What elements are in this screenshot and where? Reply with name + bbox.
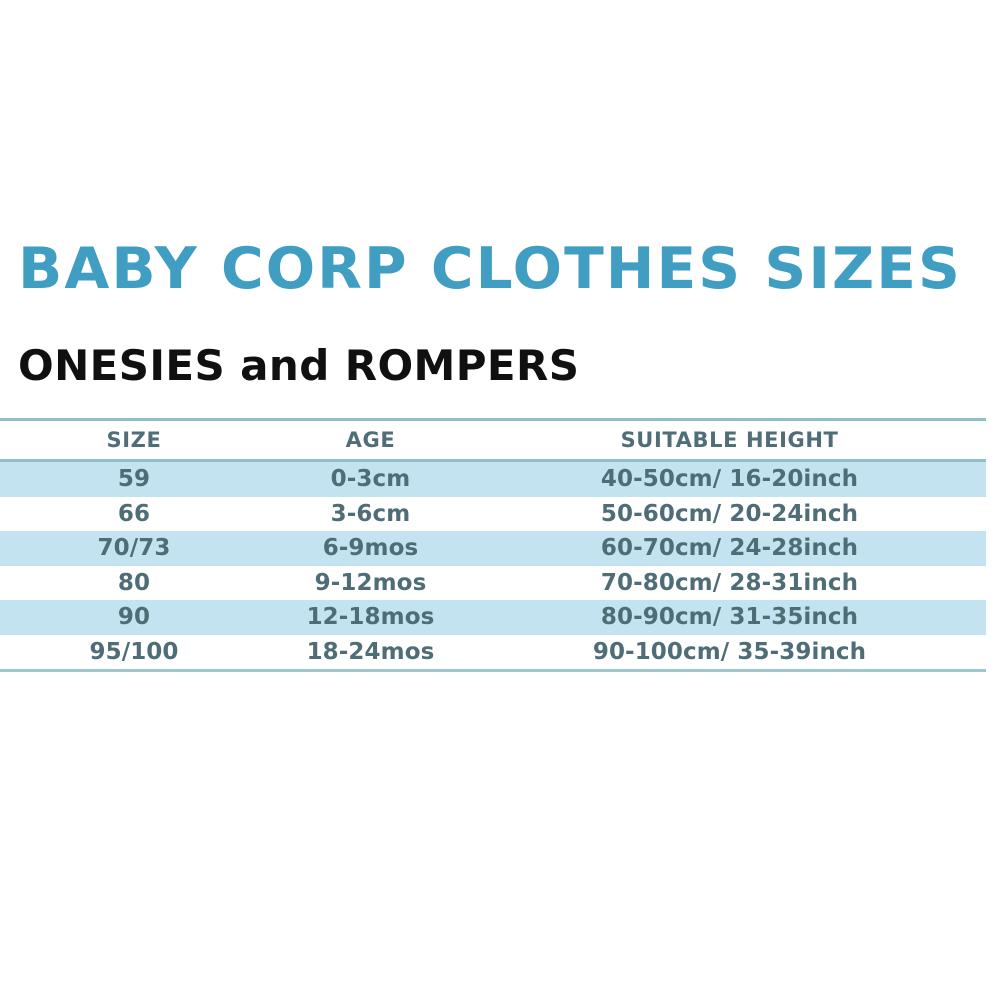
cell-suitable-height: 70-80cm/ 28-31inch <box>473 566 986 601</box>
cell-suitable-height: 40-50cm/ 16-20inch <box>473 461 986 497</box>
cell-size: 59 <box>0 461 268 497</box>
cell-size: 90 <box>0 600 268 635</box>
column-header-height: SUITABLE HEIGHT <box>473 420 986 461</box>
table-row: 9012-18mos80-90cm/ 31-35inch <box>0 600 986 635</box>
cell-suitable-height: 50-60cm/ 20-24inch <box>473 497 986 532</box>
table-row: 663-6cm50-60cm/ 20-24inch <box>0 497 986 532</box>
cell-age: 12-18mos <box>268 600 473 635</box>
size-chart-table: SIZE AGE SUITABLE HEIGHT 590-3cm40-50cm/… <box>0 418 986 672</box>
table-row: 70/736-9mos60-70cm/ 24-28inch <box>0 531 986 566</box>
cell-age: 9-12mos <box>268 566 473 601</box>
cell-suitable-height: 80-90cm/ 31-35inch <box>473 600 986 635</box>
cell-size: 70/73 <box>0 531 268 566</box>
cell-age: 3-6cm <box>268 497 473 532</box>
cell-suitable-height: 60-70cm/ 24-28inch <box>473 531 986 566</box>
table-header: SIZE AGE SUITABLE HEIGHT <box>0 420 986 461</box>
table-body: 590-3cm40-50cm/ 16-20inch663-6cm50-60cm/… <box>0 461 986 671</box>
cell-suitable-height: 90-100cm/ 35-39inch <box>473 635 986 671</box>
table-row: 809-12mos70-80cm/ 28-31inch <box>0 566 986 601</box>
table-row: 590-3cm40-50cm/ 16-20inch <box>0 461 986 497</box>
table-header-row: SIZE AGE SUITABLE HEIGHT <box>0 420 986 461</box>
cell-age: 0-3cm <box>268 461 473 497</box>
cell-size: 80 <box>0 566 268 601</box>
cell-age: 18-24mos <box>268 635 473 671</box>
section-subtitle: ONESIES and ROMPERS <box>18 339 918 393</box>
column-header-size: SIZE <box>0 420 268 461</box>
cell-size: 66 <box>0 497 268 532</box>
page-title: BABY CORP CLOTHES SIZES <box>18 233 997 305</box>
cell-size: 95/100 <box>0 635 268 671</box>
cell-age: 6-9mos <box>268 531 473 566</box>
table-row: 95/10018-24mos90-100cm/ 35-39inch <box>0 635 986 671</box>
column-header-age: AGE <box>268 420 473 461</box>
